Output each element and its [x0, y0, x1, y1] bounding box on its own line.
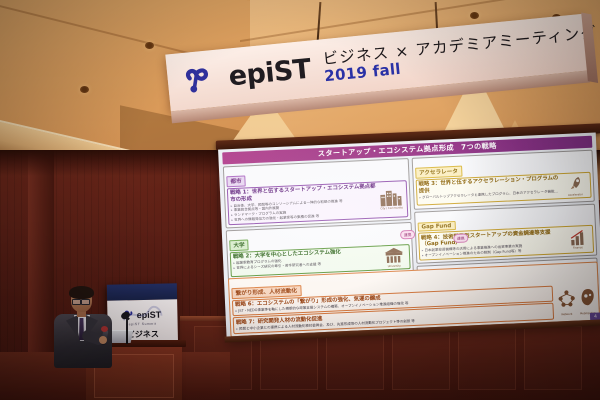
presentation-slide: スタートアップ・エコシステム拠点形成 7つの戦略 都市 戦略 1：世界と伍するス…	[218, 133, 600, 340]
slide-right-column: アクセラレータ 戦略 3：世界と伍するアクセラレーション・プログラムの提供 グロ…	[411, 150, 597, 268]
accelerator-icon-caption: Accelerator	[568, 193, 583, 197]
speaker-person	[52, 288, 114, 366]
slide-title-suffix: 7つの戦略	[461, 141, 497, 153]
section-heading-city: 都市	[226, 175, 246, 187]
downlight-icon	[80, 86, 89, 93]
city-buildings-icon: City / Community	[377, 182, 404, 216]
rollup-top-band	[107, 283, 177, 300]
university-icon-caption: University	[388, 264, 401, 268]
rocket-icon: Accelerator	[562, 174, 589, 197]
epist-loop-logo-icon	[180, 61, 217, 98]
speaker-glasses-left-icon	[72, 299, 81, 305]
conference-photo-scene: epiST ビジネス × アカデミアミーティング 2019 fall スタートア…	[0, 0, 600, 400]
mobilization-head-icon: Mobilization	[578, 288, 596, 315]
speaker-hand	[99, 336, 107, 344]
slide-left-column: 都市 戦略 1：世界と伍するスタートアップ・エコシステム拠点都市の形成 自治体、…	[223, 158, 414, 276]
section-gapfund: Gap Fund 戦略 4：技術開発型スタートアップの資金調達等支援（Gap F…	[414, 203, 598, 264]
speaker-hair	[69, 286, 94, 299]
university-campus-icon: University	[380, 247, 407, 269]
strategy-4-body: 戦略 4：技術開発型スタートアップの資金調達等支援（Gap Fund） 日本創薬…	[421, 229, 563, 258]
downlight-icon	[145, 42, 154, 49]
downlight-icon	[470, 12, 479, 19]
slide-columns: 都市 戦略 1：世界と伍するスタートアップ・エコシステム拠点都市の形成 自治体、…	[223, 150, 598, 277]
link-oval-connector: 連携	[453, 233, 469, 243]
banner-logo-text: epiST	[227, 54, 312, 93]
wainscot-panel	[524, 326, 582, 390]
strategy-1-box: 戦略 1：世界と伍するスタートアップ・エコシステム拠点都市の形成 自治体、大学、…	[227, 180, 408, 225]
projection-screen-assembly: スタートアップ・エコシステム拠点形成 7つの戦略 都市 戦略 1：世界と伍するス…	[218, 124, 600, 341]
speaker-glasses-right-icon	[81, 299, 90, 305]
projection-screen: スタートアップ・エコシステム拠点形成 7つの戦略 都市 戦略 1：世界と伍するス…	[218, 133, 600, 340]
wainscot-panel	[458, 326, 516, 390]
podium-microphone-stand	[126, 318, 128, 344]
network-people-icon: Network	[556, 289, 576, 316]
section-heading-gapfund: Gap Fund	[417, 221, 455, 232]
section-heading-university: 大学	[229, 239, 249, 251]
network-icon-caption: Network	[557, 312, 576, 316]
strategy-1-body: 戦略 1：世界と伍するスタートアップ・エコシステム拠点都市の形成 自治体、大学、…	[230, 184, 377, 223]
strategy-3-body: 戦略 3：世界と伍するアクセラレーション・プログラムの提供 グローバルトップアク…	[418, 175, 560, 203]
handheld-microphone-head	[101, 326, 108, 332]
section-heading-accelerator: アクセラレータ	[415, 165, 462, 178]
strategy-2-body: 戦略 2：大学を中心としたエコシステム強化 起業家教育プログラムの強化 世界によ…	[233, 248, 379, 275]
wainscot-panel	[392, 326, 450, 390]
gapfund-icon-caption: Finance	[573, 246, 583, 249]
section-city: 都市 戦略 1：世界と伍するスタートアップ・エコシステム拠点都市の形成 自治体、…	[223, 158, 411, 229]
city-icon-caption: City / Community	[380, 207, 403, 211]
funding-growth-icon: Finance	[564, 227, 591, 251]
section-accelerator: アクセラレータ 戦略 3：世界と伍するアクセラレーション・プログラムの提供 グロ…	[411, 150, 594, 210]
